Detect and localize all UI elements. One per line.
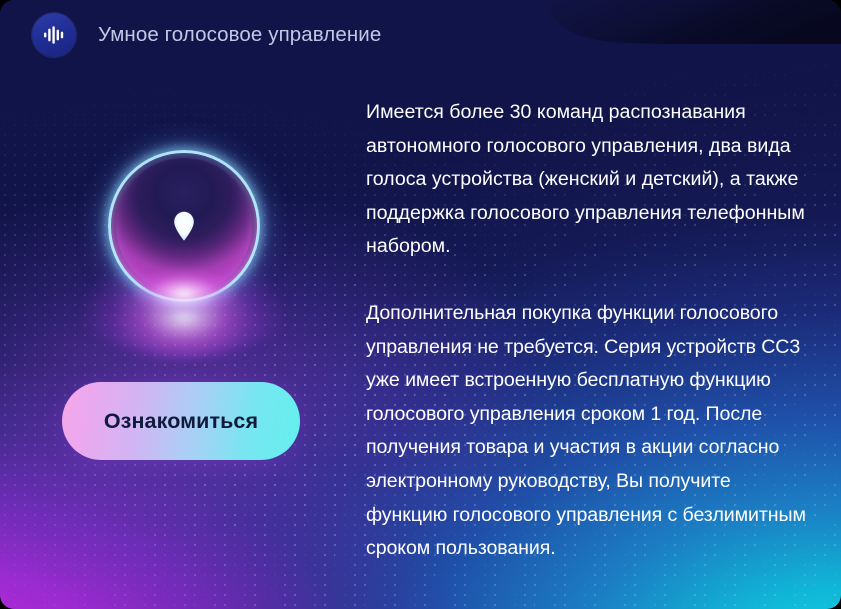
- voice-wave-icon: [32, 13, 76, 57]
- paragraph-1: Имеется более 30 команд распознавания ав…: [366, 96, 816, 264]
- left-panel: Ознакомиться: [0, 70, 355, 609]
- voice-orb: [108, 150, 260, 302]
- learn-more-button[interactable]: Ознакомиться: [62, 382, 300, 460]
- orb-bottom-flare: [118, 266, 250, 312]
- page-title: Умное голосовое управление: [98, 23, 381, 47]
- description-text: Имеется более 30 команд распознавания ав…: [366, 96, 816, 566]
- voice-pin-icon: [171, 209, 197, 241]
- voice-control-promo-card: Умное голосовое управление: [0, 0, 841, 609]
- paragraph-2: Дополнительная покупка функции голосовог…: [366, 297, 816, 566]
- header: Умное голосовое управление: [0, 0, 560, 70]
